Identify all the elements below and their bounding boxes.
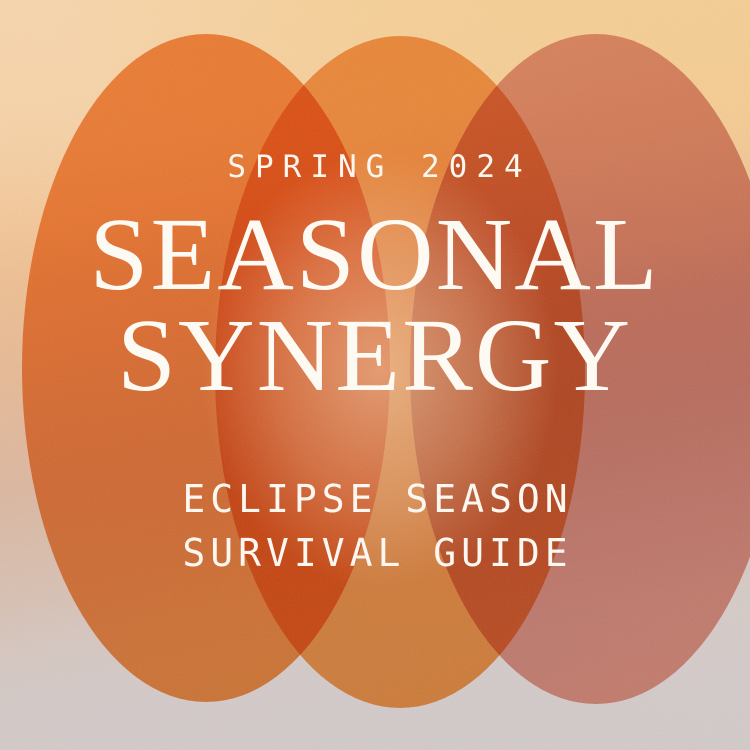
poster-canvas: SPRING 2024 SEASONAL SYNERGY ECLIPSE SEA…: [0, 0, 750, 750]
